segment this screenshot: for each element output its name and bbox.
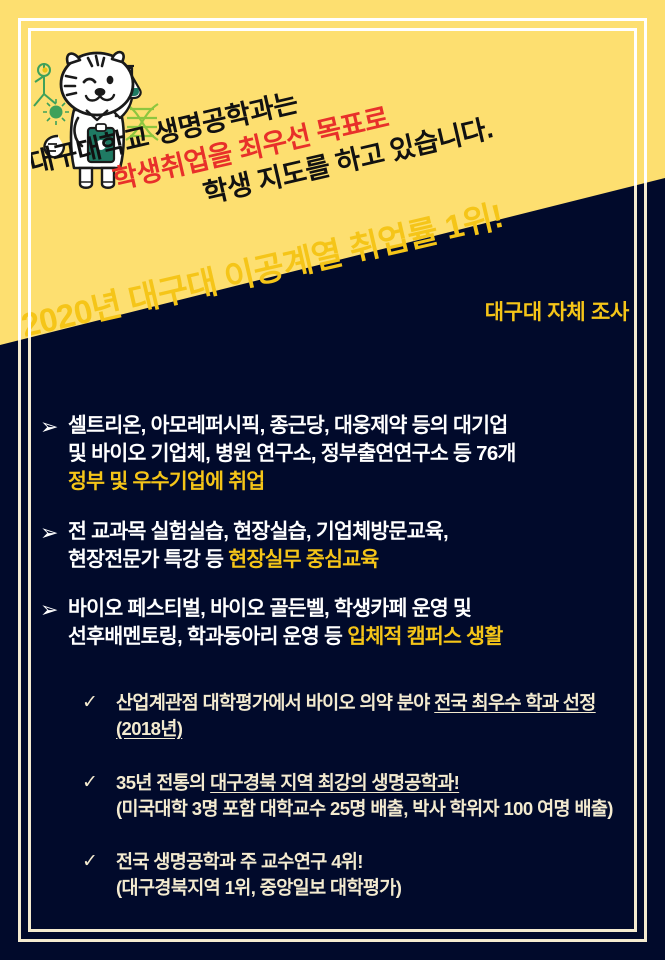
achievement-plain: 산업계관점 대학평가에서 바이오 의약 분야 <box>116 692 434 713</box>
bullet-line-tail: 현장전문가 특강 등 <box>68 548 228 571</box>
arrow-bullet-icon: ➢ <box>40 412 68 441</box>
achievement-item: ✓ 35년 전통의 대구경북 지역 최강의 생명공학과! (미국대학 3명 포함… <box>82 770 642 823</box>
bullet-item: ➢ 셀트리온, 아모레퍼시픽, 종근당, 대웅제약 등의 대기업 및 바이오 기… <box>40 412 640 496</box>
achievement-extra: (미국대학 3명 포함 대학교수 25명 배출, 박사 학위자 100 여명 배… <box>116 798 613 819</box>
achievement-plain: 전국 생명공학과 주 교수연구 4위! <box>116 851 363 872</box>
check-icon: ✓ <box>82 770 116 797</box>
check-icon: ✓ <box>82 690 116 717</box>
bullet-line: 바이오 페스티벌, 바이오 골든벨, 학생카페 운영 및 <box>68 597 471 620</box>
achievement-text: 35년 전통의 대구경북 지역 최강의 생명공학과! (미국대학 3명 포함 대… <box>116 770 642 823</box>
bullet-line: 전 교과목 실험실습, 현장실습, 기업체방문교육, <box>68 520 448 543</box>
achievement-underlined: 대구경북 지역 최강의 생명공학과! <box>210 772 459 793</box>
bullet-emphasis: 현장실무 중심교육 <box>228 548 378 571</box>
achievement-item: ✓ 전국 생명공학과 주 교수연구 4위! (대구경북지역 1위, 중앙일보 대… <box>82 849 642 902</box>
arrow-bullet-icon: ➢ <box>40 595 68 624</box>
achievement-item: ✓ 산업계관점 대학평가에서 바이오 의약 분야 전국 최우수 학과 선정 (2… <box>82 690 642 743</box>
bullet-text: 셀트리온, 아모레퍼시픽, 종근당, 대웅제약 등의 대기업 및 바이오 기업체… <box>68 412 640 496</box>
poster-root: 대구대학교 생명공학과는 학생취업을 최우선 목표로 학생 지도를 하고 있습니… <box>0 0 665 960</box>
tiger-mascot-icon <box>30 32 190 207</box>
bullet-line: 및 바이오 기업체, 병원 연구소, 정부출연연구소 등 76개 <box>68 442 516 465</box>
achievement-text: 산업계관점 대학평가에서 바이오 의약 분야 전국 최우수 학과 선정 (201… <box>116 690 642 743</box>
achievement-list: ✓ 산업계관점 대학평가에서 바이오 의약 분야 전국 최우수 학과 선정 (2… <box>82 690 642 929</box>
bullet-emphasis: 입체적 캠퍼스 생활 <box>347 625 502 648</box>
check-icon: ✓ <box>82 849 116 876</box>
bullet-line-tail: 선후배멘토링, 학과동아리 운영 등 <box>68 625 347 648</box>
bullet-item: ➢ 전 교과목 실험실습, 현장실습, 기업체방문교육, 현장전문가 특강 등 … <box>40 518 640 574</box>
achievement-text: 전국 생명공학과 주 교수연구 4위! (대구경북지역 1위, 중앙일보 대학평… <box>116 849 642 902</box>
survey-source-note: 대구대 자체 조사 <box>485 296 629 326</box>
bullet-item: ➢ 바이오 페스티벌, 바이오 골든벨, 학생카페 운영 및 선후배멘토링, 학… <box>40 595 640 651</box>
achievement-extra: (대구경북지역 1위, 중앙일보 대학평가) <box>116 877 401 898</box>
bullet-text: 전 교과목 실험실습, 현장실습, 기업체방문교육, 현장전문가 특강 등 현장… <box>68 518 640 574</box>
bullet-text: 바이오 페스티벌, 바이오 골든벨, 학생카페 운영 및 선후배멘토링, 학과동… <box>68 595 640 651</box>
achievement-plain: 35년 전통의 <box>116 772 210 793</box>
bullet-line: 셀트리온, 아모레퍼시픽, 종근당, 대웅제약 등의 대기업 <box>68 414 507 437</box>
arrow-bullet-icon: ➢ <box>40 518 68 547</box>
bullet-emphasis: 정부 및 우수기업에 취업 <box>68 470 265 493</box>
bullet-list: ➢ 셀트리온, 아모레퍼시픽, 종근당, 대웅제약 등의 대기업 및 바이오 기… <box>40 412 640 673</box>
